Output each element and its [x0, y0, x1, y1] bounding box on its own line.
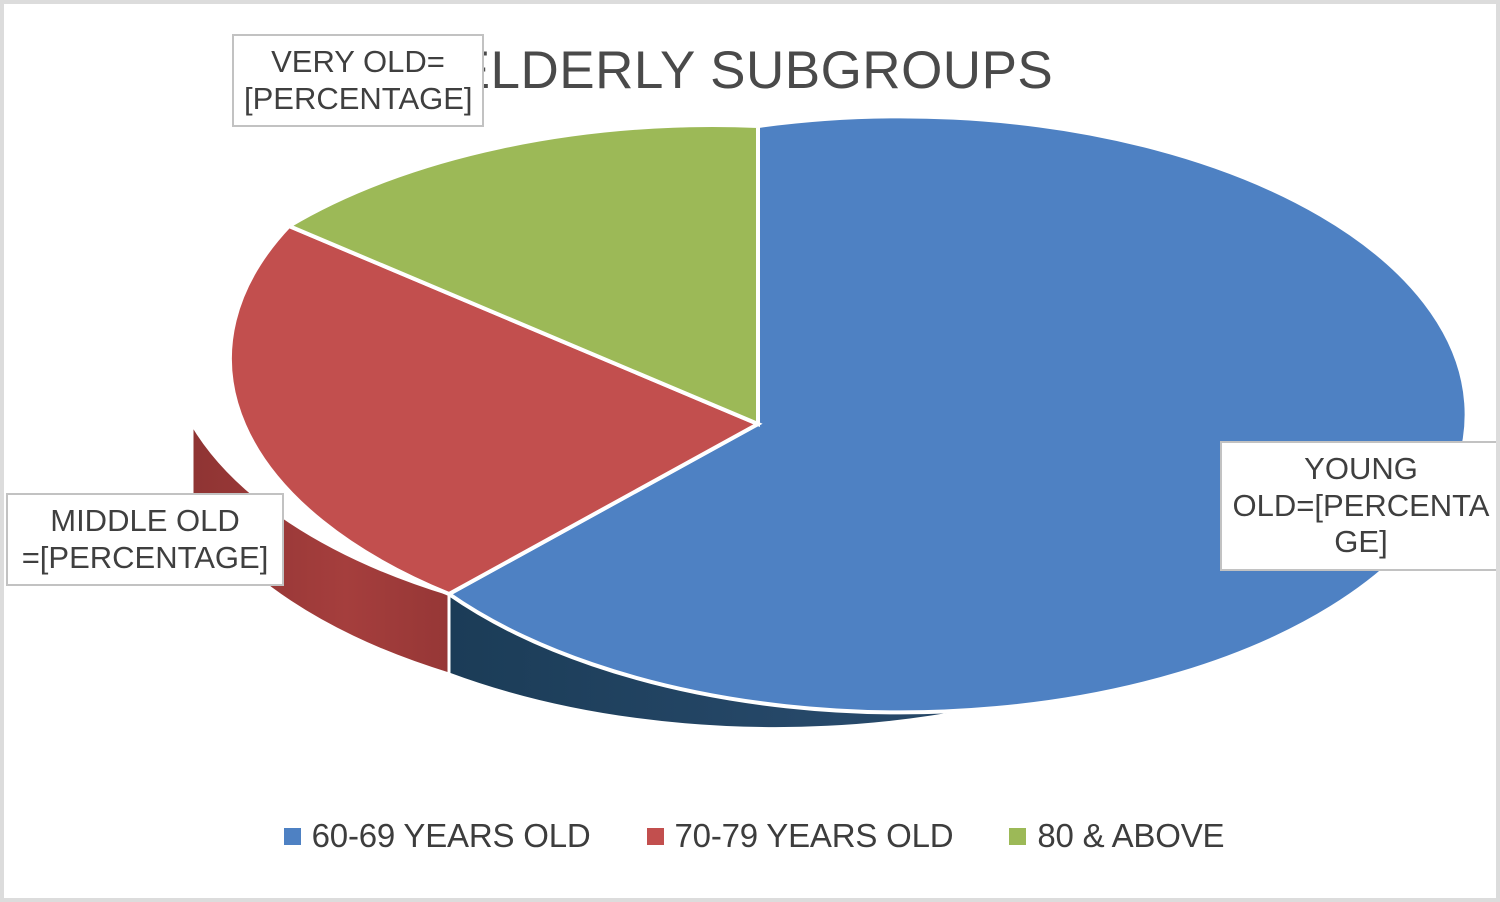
data-label-middle-old-line1: MIDDLE OLD: [18, 503, 272, 540]
data-label-young-old-line3: GE]: [1232, 524, 1490, 561]
legend-item-80-above: 80 & ABOVE: [1009, 817, 1224, 855]
legend-label-70-79: 70-79 YEARS OLD: [675, 817, 954, 855]
chart-container: ELDERLY SUBGROUPS: [0, 0, 1500, 902]
data-label-young-old-line2: OLD=[PERCENTA: [1232, 488, 1490, 525]
legend-item-60-69: 60-69 YEARS OLD: [284, 817, 591, 855]
legend-swatch-icon-60-69: [284, 828, 301, 845]
data-label-young-old-line1: YOUNG: [1232, 451, 1490, 488]
data-label-middle-old-line2: =[PERCENTAGE]: [18, 540, 272, 577]
data-label-middle-old: MIDDLE OLD =[PERCENTAGE]: [6, 493, 284, 586]
data-label-young-old: YOUNG OLD=[PERCENTA GE]: [1220, 441, 1500, 571]
data-label-very-old-line2: [PERCENTAGE]: [244, 81, 472, 118]
data-label-very-old: VERY OLD= [PERCENTAGE]: [232, 34, 484, 127]
data-label-very-old-line1: VERY OLD=: [244, 44, 472, 81]
legend-item-70-79: 70-79 YEARS OLD: [647, 817, 954, 855]
chart-legend: 60-69 YEARS OLD 70-79 YEARS OLD 80 & ABO…: [4, 817, 1500, 855]
legend-swatch-icon-80-above: [1009, 828, 1026, 845]
legend-label-80-above: 80 & ABOVE: [1037, 817, 1224, 855]
legend-label-60-69: 60-69 YEARS OLD: [312, 817, 591, 855]
legend-swatch-icon-70-79: [647, 828, 664, 845]
